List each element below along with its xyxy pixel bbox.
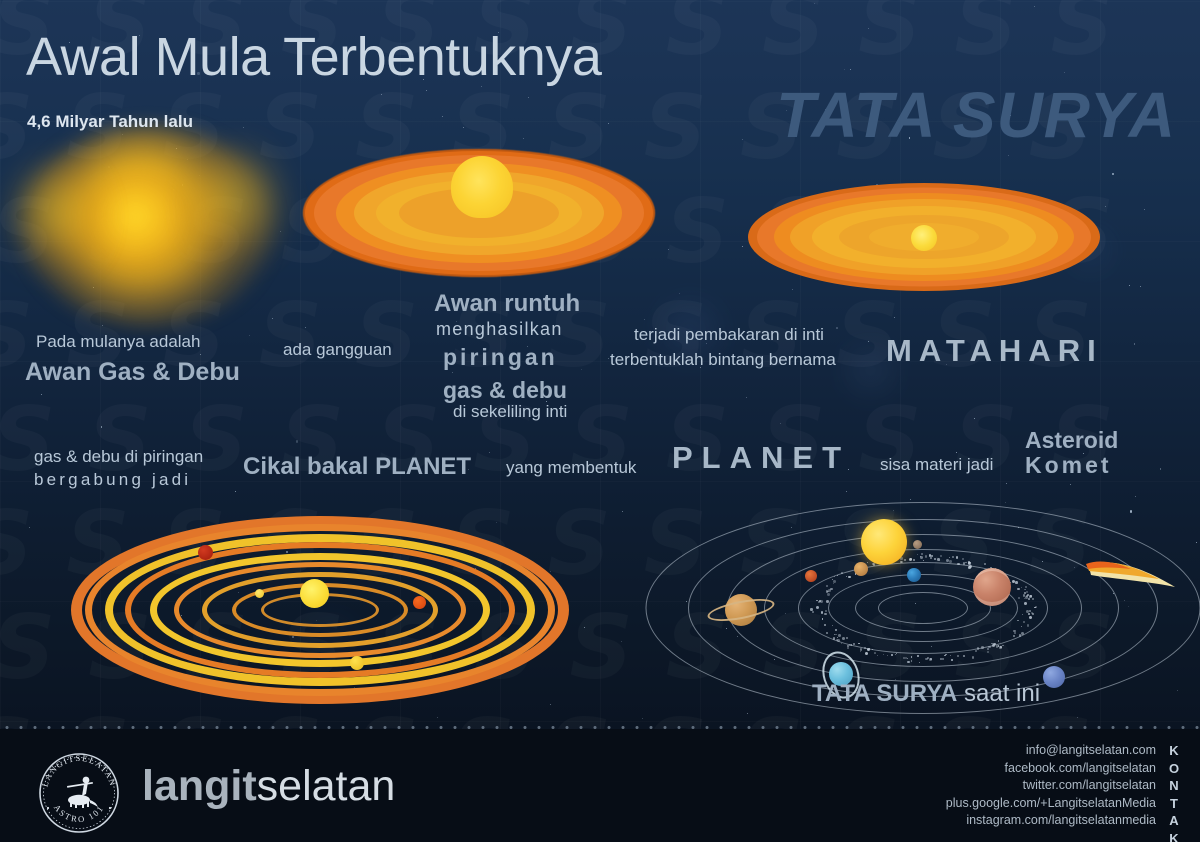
label-matahari: MATAHARI <box>886 333 1103 369</box>
asteroid <box>869 648 870 649</box>
asteroid <box>921 553 923 555</box>
asteroid <box>1026 610 1029 613</box>
asteroid <box>833 583 834 584</box>
asteroid <box>877 655 879 657</box>
asteroid <box>987 651 989 653</box>
caption-stage3-line1: Awan runtuh <box>434 290 580 318</box>
asteroid <box>826 585 828 587</box>
star <box>528 97 529 98</box>
asteroid <box>911 656 913 658</box>
asteroid <box>1021 626 1022 627</box>
caption-stage3-line3: piringan <box>443 344 558 371</box>
asteroid <box>972 656 975 659</box>
label-komet: Komet <box>1025 452 1112 479</box>
asteroid <box>838 634 841 637</box>
star <box>1064 72 1065 73</box>
asteroid <box>907 658 909 660</box>
star <box>41 394 42 395</box>
kontak-letter: K <box>1164 742 1184 760</box>
forming-planet <box>413 596 426 609</box>
infographic-canvas: SSSSSSSSSSSSSSSSSSSSSSSSSSSSSSSSSSSSSSSS… <box>0 0 1200 842</box>
asteroid <box>816 606 819 609</box>
star <box>668 249 669 250</box>
asteroid <box>1014 632 1016 634</box>
star <box>679 293 680 294</box>
star <box>1144 209 1146 211</box>
star <box>437 717 438 718</box>
kontak-vertical-label: KONTAK <box>1164 742 1184 842</box>
asteroid <box>822 618 823 619</box>
star <box>1134 343 1136 345</box>
caption-solar-system: TATA SURYA saat ini <box>812 680 1040 708</box>
asteroid <box>1024 598 1026 600</box>
star <box>844 69 845 70</box>
asteroid <box>872 649 873 650</box>
asteroid <box>1027 624 1029 626</box>
asteroid <box>833 637 836 640</box>
footer-divider <box>0 726 1200 729</box>
asteroid <box>1021 587 1022 588</box>
asteroid <box>957 655 959 657</box>
asteroid <box>853 643 856 646</box>
asteroid <box>917 655 919 657</box>
planet-earth <box>907 568 921 582</box>
star <box>780 423 781 424</box>
brand-part-selatan: selatan <box>257 762 396 810</box>
asteroid <box>1023 621 1025 623</box>
asteroid <box>998 640 999 641</box>
asteroid <box>827 593 830 596</box>
star <box>305 327 306 328</box>
caption-stage6: yang membentuk <box>506 458 636 478</box>
asteroid <box>1017 588 1020 591</box>
asteroid <box>940 555 942 557</box>
asteroid <box>1023 594 1025 596</box>
asteroid <box>942 658 944 660</box>
protoplanetary-disk-illustration <box>70 515 570 705</box>
star <box>621 641 622 642</box>
caption-stage2: ada gangguan <box>283 340 392 360</box>
asteroid <box>988 646 991 649</box>
caption-stage7: sisa materi jadi <box>880 455 993 475</box>
asteroid <box>835 629 838 632</box>
caption-stage5-line1: gas & debu di piringan <box>34 447 203 467</box>
contact-googleplus[interactable]: plus.google.com/+LangitselatanMedia <box>946 795 1156 813</box>
asteroid <box>945 654 947 656</box>
asteroid <box>826 600 829 603</box>
asteroid <box>830 588 833 591</box>
brand-part-langit: langit <box>142 762 257 810</box>
forming-planet <box>198 545 213 560</box>
asteroid <box>923 560 925 562</box>
asteroid <box>1025 586 1027 588</box>
langitselatan-logo-badge[interactable]: LANGITSELATAN ASTRO 101 <box>34 748 124 838</box>
asteroid <box>963 655 965 657</box>
star <box>1112 173 1114 175</box>
asteroid <box>944 655 945 656</box>
asteroid <box>934 558 936 560</box>
star <box>584 627 585 628</box>
star <box>1129 285 1130 286</box>
asteroid <box>1015 581 1018 584</box>
star <box>868 28 869 29</box>
asteroid <box>832 579 833 580</box>
star <box>452 372 453 373</box>
star <box>1160 468 1162 470</box>
asteroid <box>846 576 847 577</box>
asteroid <box>883 654 884 655</box>
star <box>974 418 975 419</box>
caption-stage3-line5: di sekeliling inti <box>453 402 567 422</box>
contact-twitter[interactable]: twitter.com/langitselatan <box>946 777 1156 795</box>
asteroid <box>992 644 994 646</box>
star <box>381 94 382 95</box>
asteroid <box>841 643 842 644</box>
asteroid <box>919 662 921 664</box>
asteroid <box>896 653 897 654</box>
asteroid <box>867 562 868 563</box>
page-title: Awal Mula Terbentuknya <box>26 26 601 88</box>
asteroid <box>819 600 821 602</box>
star <box>846 491 847 492</box>
star <box>746 397 747 398</box>
contact-email[interactable]: info@langitselatan.com <box>946 742 1156 760</box>
star <box>463 127 464 128</box>
star <box>101 426 103 428</box>
asteroid <box>909 558 912 561</box>
asteroid <box>826 590 829 593</box>
asteroid <box>824 624 826 626</box>
asteroid <box>1013 635 1015 637</box>
asteroid <box>832 625 833 626</box>
asteroid <box>1026 591 1028 593</box>
asteroid <box>950 655 951 656</box>
star <box>249 335 250 336</box>
label-asteroid: Asteroid <box>1025 427 1118 454</box>
asteroid <box>969 562 971 564</box>
asteroid <box>999 646 1002 649</box>
planet-mars <box>805 570 817 582</box>
contact-instagram[interactable]: instagram.com/langitselatanmedia <box>946 812 1156 830</box>
asteroid <box>957 563 959 565</box>
asteroid <box>851 644 853 646</box>
asteroid <box>841 572 843 574</box>
star <box>894 317 895 318</box>
star <box>868 341 869 342</box>
asteroid <box>952 556 954 558</box>
caption-stage3-line4: gas & debu <box>443 377 567 404</box>
asteroid <box>836 639 838 641</box>
asteroid <box>975 650 977 652</box>
subtitle-years: 4,6 Milyar Tahun lalu <box>27 112 193 132</box>
asteroid <box>820 600 823 603</box>
caption-stage1-line1: Pada mulanya adalah <box>36 332 200 352</box>
collapsing-cloud-disk-illustration <box>303 142 655 284</box>
asteroid <box>930 658 933 661</box>
asteroid <box>874 652 876 654</box>
asteroid <box>865 652 868 655</box>
asteroid <box>962 558 964 560</box>
star <box>200 354 201 355</box>
star <box>1070 484 1071 485</box>
caption-stage4-line2: terbentuklah bintang bernama <box>610 350 836 370</box>
star <box>742 246 743 247</box>
asteroid <box>837 637 838 638</box>
asteroid <box>821 611 824 614</box>
asteroid <box>858 643 860 645</box>
svg-text:ASTRO 101: ASTRO 101 <box>52 803 106 825</box>
asteroid <box>891 654 893 656</box>
caption-stage4-line1: terjadi pembakaran di inti <box>634 325 824 345</box>
svg-text:LANGITSELATAN: LANGITSELATAN <box>40 753 119 788</box>
protostar-disk-illustration <box>748 178 1100 296</box>
kontak-letter: K <box>1164 830 1184 842</box>
asteroid <box>981 646 984 649</box>
asteroid <box>846 637 848 639</box>
star <box>1077 717 1078 718</box>
gas-dust-cloud-illustration <box>18 118 283 333</box>
asteroid <box>900 561 902 563</box>
star <box>608 123 609 124</box>
star <box>1034 6 1035 7</box>
kontak-letter: O <box>1164 760 1184 778</box>
star <box>29 527 30 528</box>
star <box>1006 483 1007 484</box>
planet-venus <box>854 562 868 576</box>
contact-facebook[interactable]: facebook.com/langitselatan <box>946 760 1156 778</box>
asteroid <box>930 557 932 559</box>
asteroid <box>903 657 906 660</box>
asteroid <box>956 556 958 558</box>
star <box>523 138 524 139</box>
big-title-tata-surya: TATA SURYA <box>776 78 1176 152</box>
protostar-core <box>300 579 329 608</box>
star <box>426 90 427 91</box>
kontak-letter: N <box>1164 777 1184 795</box>
asteroid <box>1024 602 1027 605</box>
forming-planet <box>255 589 264 598</box>
star <box>814 3 816 5</box>
planet-jupiter <box>973 568 1011 606</box>
brand-wordmark[interactable]: langitselatan <box>142 765 395 808</box>
star <box>1008 155 1009 156</box>
caption-solar-system-light: saat ini <box>957 680 1040 707</box>
contact-list: info@langitselatan.com facebook.com/lang… <box>946 742 1156 830</box>
star <box>836 327 838 329</box>
star <box>850 69 851 70</box>
asteroid <box>949 560 952 563</box>
asteroid <box>834 576 835 577</box>
star <box>742 139 743 140</box>
kontak-letter: T <box>1164 795 1184 813</box>
star <box>489 452 490 453</box>
caption-solar-system-bold: TATA SURYA <box>812 680 957 707</box>
star <box>644 319 645 320</box>
asteroid <box>1018 597 1020 599</box>
asteroid <box>963 562 966 565</box>
star <box>296 440 298 442</box>
asteroid <box>826 632 828 634</box>
planet-neptune <box>1043 666 1065 688</box>
asteroid <box>925 555 928 558</box>
asteroid <box>847 647 850 650</box>
planet-mercury <box>913 540 922 549</box>
asteroid <box>816 600 818 602</box>
asteroid <box>835 634 836 635</box>
asteroid <box>887 655 888 656</box>
star <box>235 491 236 492</box>
star <box>622 511 623 512</box>
asteroid <box>917 554 919 556</box>
asteroid <box>1002 645 1004 647</box>
asteroid <box>913 559 915 561</box>
asteroid <box>984 563 986 565</box>
star <box>1140 286 1141 287</box>
caption-stage5-line2: bergabung jadi <box>34 470 191 490</box>
star <box>1135 496 1136 497</box>
asteroid <box>1022 614 1023 615</box>
star <box>956 452 957 453</box>
kontak-letter: A <box>1164 812 1184 830</box>
sun <box>861 519 907 565</box>
asteroid <box>860 651 861 652</box>
asteroid <box>848 576 851 579</box>
star <box>581 369 582 370</box>
asteroid <box>1021 632 1024 635</box>
asteroid <box>939 560 940 561</box>
label-cikal-bakal-planet: Cikal bakal PLANET <box>243 453 471 481</box>
star <box>608 358 609 359</box>
asteroid <box>949 557 950 558</box>
caption-stage1-label: Awan Gas & Debu <box>25 358 240 387</box>
star <box>1105 206 1106 207</box>
asteroid <box>1017 620 1018 621</box>
caption-stage3-line2: menghasilkan <box>436 319 563 340</box>
asteroid <box>842 637 845 640</box>
asteroid <box>904 559 906 561</box>
forming-planet <box>350 656 364 670</box>
asteroid <box>824 613 827 616</box>
asteroid <box>1028 598 1030 600</box>
asteroid <box>837 575 838 576</box>
star <box>642 718 643 719</box>
star <box>442 116 443 117</box>
comet <box>1085 555 1190 595</box>
label-planet: PLANET <box>672 440 850 476</box>
